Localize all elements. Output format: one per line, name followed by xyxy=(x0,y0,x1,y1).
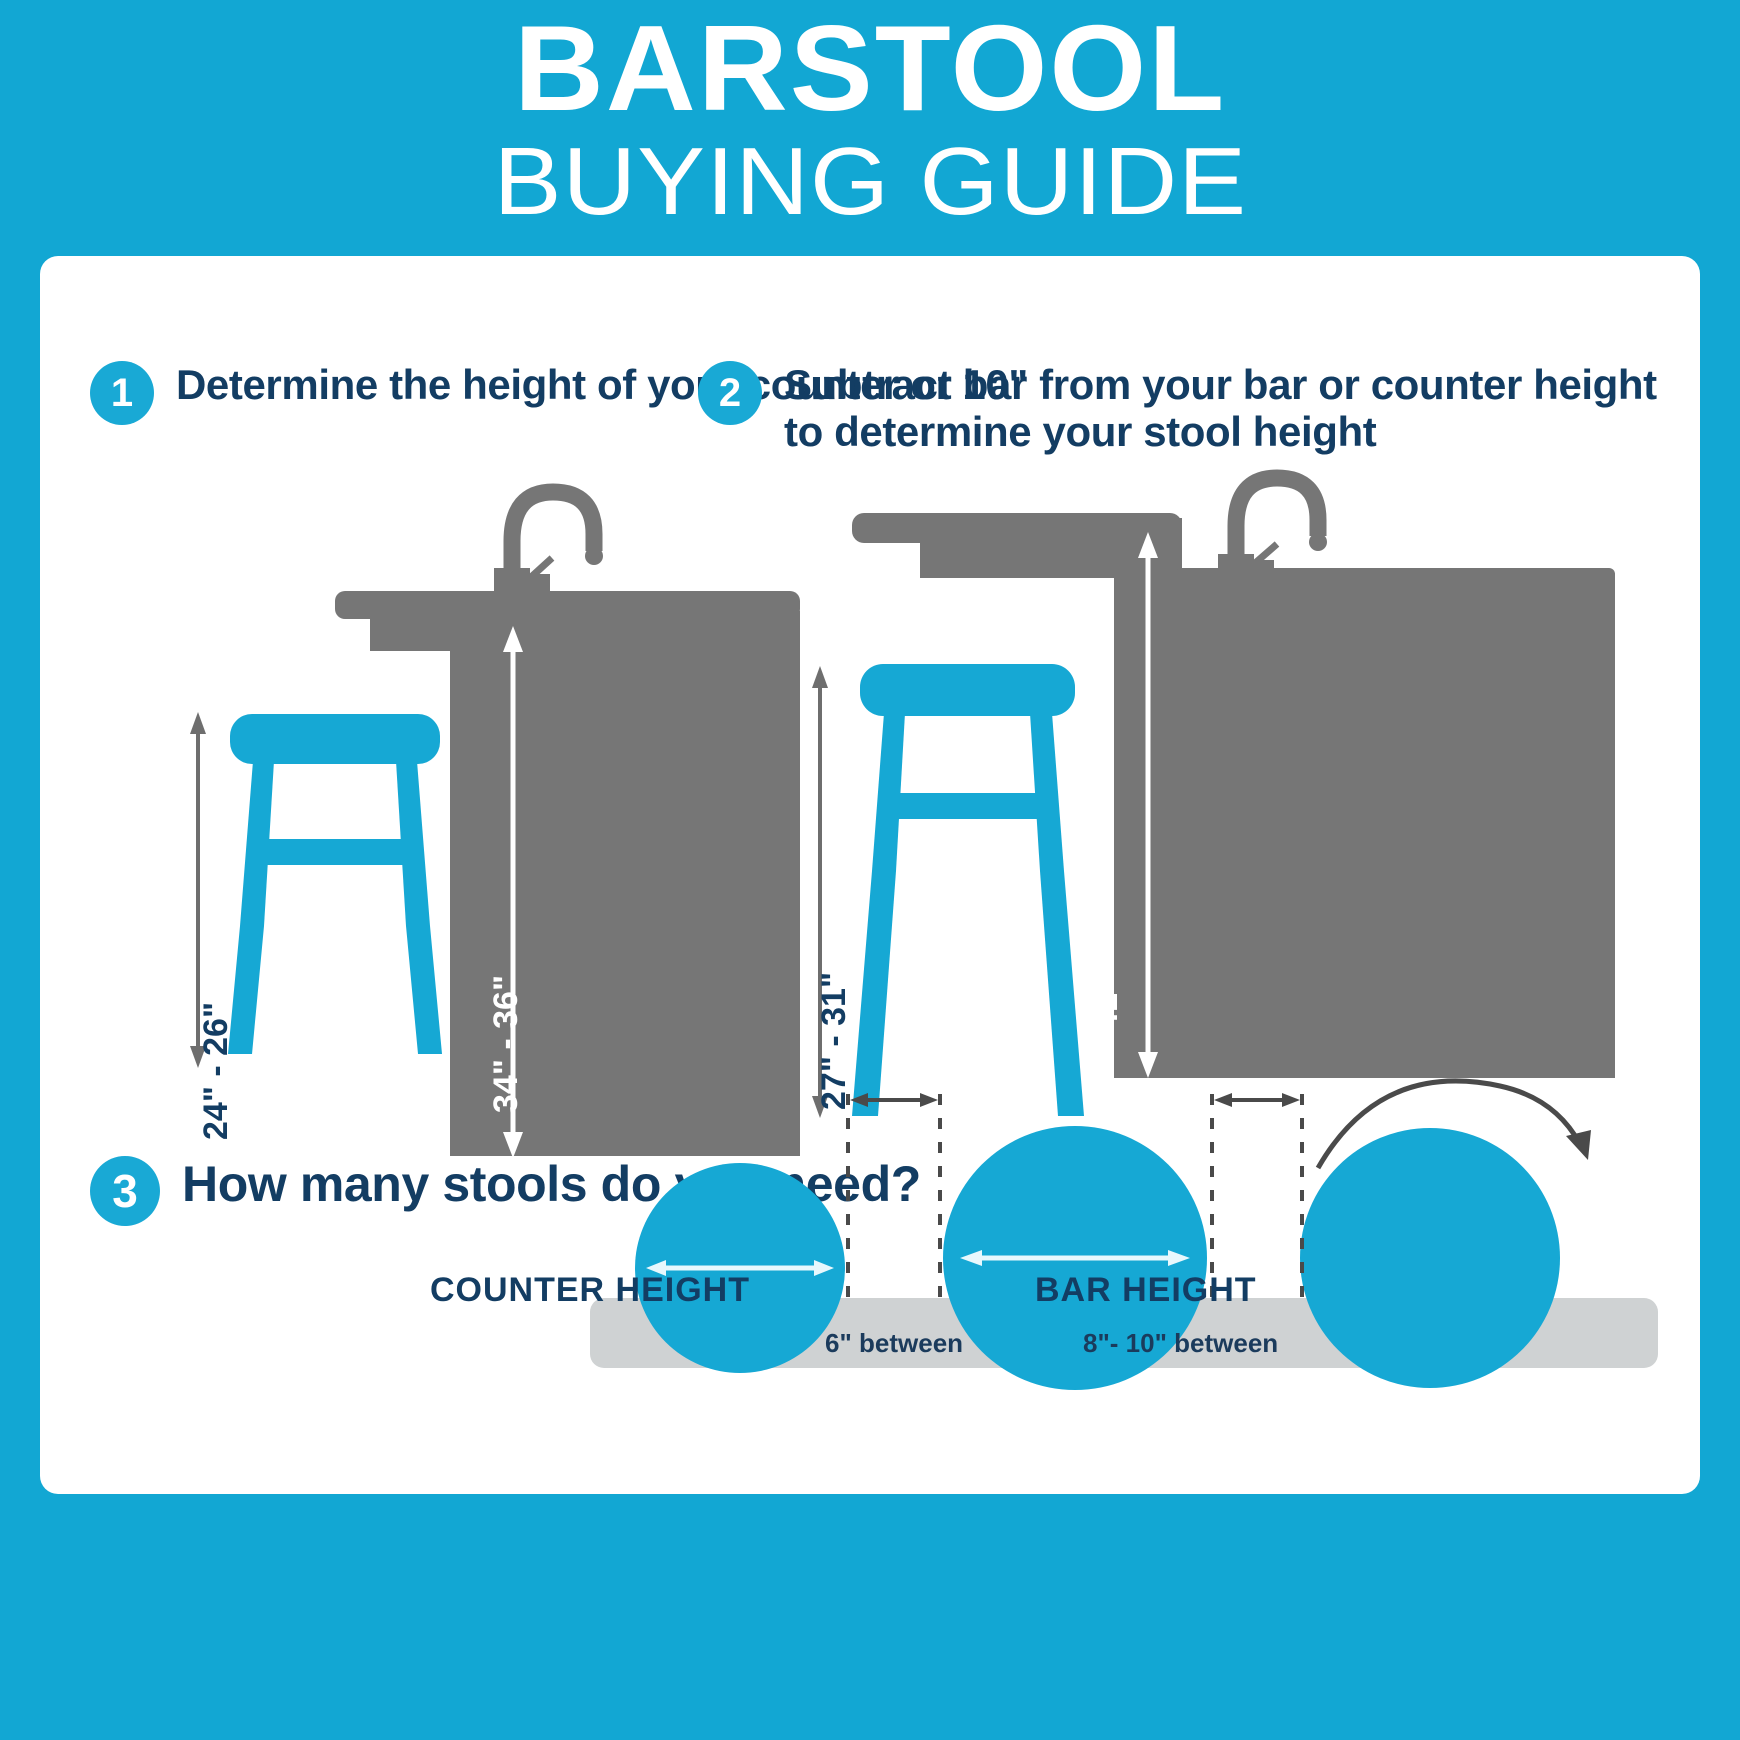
step-2-text: Subtract 10" from your bar or counter he… xyxy=(784,361,1700,455)
gap-arrow-2 xyxy=(1214,1093,1300,1107)
counter-height-caption: COUNTER HEIGHT xyxy=(430,1271,750,1310)
bar-stool-height-label: 27" - 31" xyxy=(815,972,854,1110)
stool-2-unit: diameter xyxy=(945,1424,1121,1452)
step-2-heading: 2 Subtract 10" from your bar or counter … xyxy=(698,361,1700,455)
stool-2-size: 19" - 22" xyxy=(945,1396,1121,1424)
page-title: BARSTOOL xyxy=(514,6,1226,130)
step-2-number: 2 xyxy=(698,361,762,425)
page-subtitle: BUYING GUIDE xyxy=(493,134,1246,230)
step-1-number: 1 xyxy=(90,361,154,425)
gap-label-1: 6" between xyxy=(825,1328,963,1359)
step-2-line: Subtract 10" from your bar or counter he… xyxy=(784,361,1657,455)
gap-label-2: 8"- 10" between xyxy=(1083,1328,1278,1359)
bar-height-caption: BAR HEIGHT xyxy=(1035,1271,1257,1310)
header-banner: BARSTOOL BUYING GUIDE xyxy=(0,0,1740,250)
counter-surface-height-label: 34" - 36" xyxy=(487,975,526,1113)
faucet-icon xyxy=(494,492,603,598)
stool-1-unit: diameter xyxy=(712,1427,848,1455)
counter-stool-shape xyxy=(228,714,442,1054)
step-3-number: 3 xyxy=(90,1156,160,1226)
bar-surface-height-label: 37" - 41" xyxy=(1087,977,1126,1115)
stool-1-size: 16" - 18" xyxy=(712,1399,848,1427)
swivel-note: Be sure to allow more space for barstool… xyxy=(1230,1384,1420,1494)
gap-guides-1 xyxy=(848,1094,940,1302)
stool-2-label: 19" - 22" diameter xyxy=(945,1396,1121,1453)
content-card: 1 Determine the height of your counter o… xyxy=(40,256,1700,1494)
gap-arrow-1 xyxy=(850,1093,938,1107)
stool-circle-3 xyxy=(1300,1128,1560,1388)
counter-stool-height-label: 24" - 26" xyxy=(197,1002,236,1140)
stool-1-label: 16" - 18" diameter xyxy=(712,1399,848,1456)
